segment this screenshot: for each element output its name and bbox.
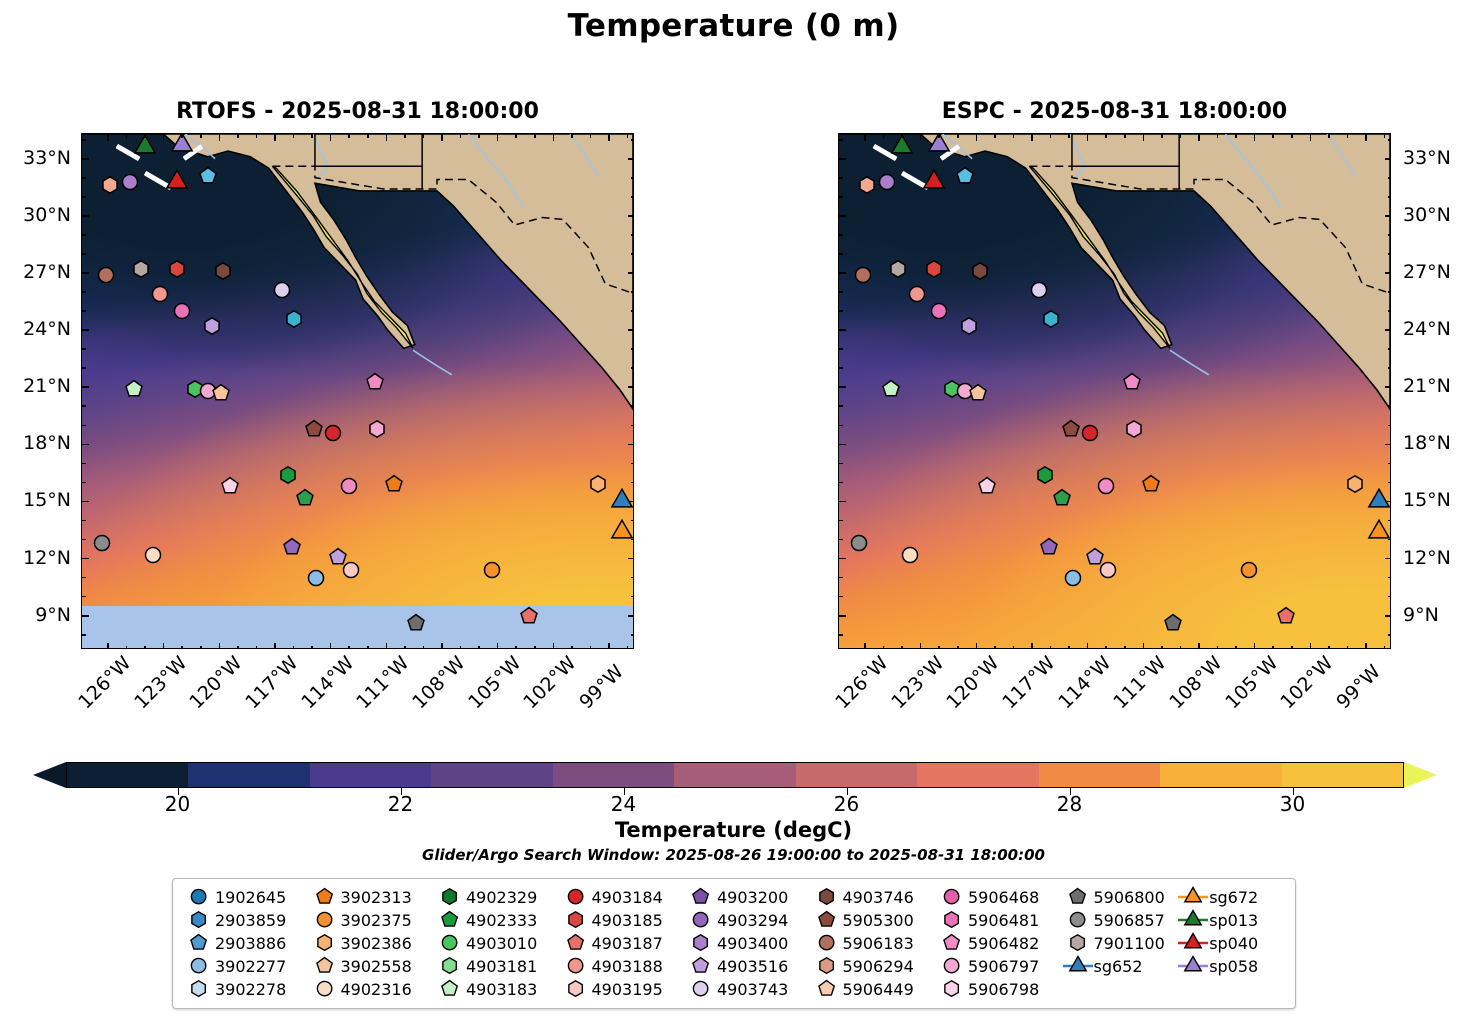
lon-minor-tick bbox=[571, 646, 573, 649]
map-marker-argo-8[interactable] bbox=[907, 284, 927, 304]
lon-tick-label: 114°W bbox=[1054, 661, 1106, 713]
legend-column-8: sg672 sp013 sp040 sp058 bbox=[1177, 887, 1285, 999]
map-marker-argo-28[interactable] bbox=[900, 545, 920, 565]
lat-tick bbox=[1385, 272, 1391, 274]
map-marker-argo-5[interactable] bbox=[924, 259, 944, 279]
legend-label: 4903294 bbox=[717, 911, 788, 930]
map-marker-argo-35[interactable] bbox=[1276, 606, 1296, 626]
lon-tick bbox=[608, 643, 610, 649]
map-marker-argo-8[interactable] bbox=[150, 284, 170, 304]
map-marker-argo-21[interactable] bbox=[278, 465, 298, 485]
legend-item[interactable]: 4903743 bbox=[685, 979, 811, 999]
lat-minor-tick bbox=[839, 196, 843, 198]
legend-label: 4902316 bbox=[341, 980, 412, 999]
colorbar-extend-high bbox=[1404, 762, 1437, 788]
legend-symbol-sg672 bbox=[1177, 888, 1209, 906]
map-panel-espc[interactable]: ESPC - 2025-08-31 18:00:00 126°W123°W120… bbox=[838, 133, 1391, 649]
legend-item[interactable]: 4902333 bbox=[434, 910, 560, 930]
legend-column-1: 39023133902375390238639025584902316 bbox=[309, 887, 435, 999]
map-canvas-rtofs[interactable] bbox=[81, 133, 634, 649]
lat-minor-tick bbox=[1388, 253, 1391, 255]
map-marker-argo-21[interactable] bbox=[1035, 465, 1055, 485]
legend-item[interactable]: 4903516 bbox=[685, 956, 811, 976]
lat-tick bbox=[82, 272, 89, 274]
lon-minor-tick bbox=[1180, 646, 1182, 649]
map-marker-argo-33[interactable] bbox=[1239, 560, 1259, 580]
map-marker-argo-2[interactable] bbox=[857, 175, 877, 195]
lon-minor-tick bbox=[994, 646, 996, 649]
lon-tick bbox=[219, 643, 221, 649]
legend-item[interactable]: 5906449 bbox=[811, 979, 937, 999]
map-marker-argo-34[interactable] bbox=[406, 613, 426, 633]
lat-tick-label: 21°N bbox=[1403, 375, 1467, 397]
lat-tick-label: 9°N bbox=[0, 604, 71, 626]
colorbar-tick-label: 22 bbox=[388, 792, 413, 816]
lon-tick bbox=[1310, 643, 1312, 649]
lon-tick bbox=[1198, 643, 1200, 649]
lon-tick bbox=[1254, 643, 1256, 649]
lon-tick bbox=[497, 643, 499, 649]
legend-item[interactable]: 4903746 bbox=[811, 887, 937, 907]
map-marker-argo-9[interactable] bbox=[172, 301, 192, 321]
legend-item[interactable]: 4903400 bbox=[685, 933, 811, 953]
legend-item[interactable]: 3902278 bbox=[183, 979, 309, 999]
lon-minor-tick bbox=[1272, 134, 1274, 138]
lon-minor-tick bbox=[367, 646, 369, 649]
legend-label: 5906798 bbox=[968, 980, 1039, 999]
lon-minor-tick bbox=[348, 134, 350, 138]
legend-item[interactable]: 1902645 bbox=[183, 887, 309, 907]
lon-tick bbox=[920, 643, 922, 649]
lat-tick bbox=[1385, 329, 1391, 331]
lon-minor-tick bbox=[994, 134, 996, 138]
legend-column-5: 49037465905300590618359062945906449 bbox=[811, 887, 937, 999]
lat-minor-tick bbox=[82, 596, 86, 598]
lon-tick bbox=[497, 134, 499, 141]
lat-tick-label: 27°N bbox=[1403, 261, 1467, 283]
map-marker-argo-11[interactable] bbox=[284, 309, 304, 329]
legend-symbol-4903183 bbox=[434, 979, 466, 998]
lat-minor-tick bbox=[82, 520, 86, 522]
lon-tick bbox=[1087, 134, 1089, 141]
lon-tick bbox=[386, 643, 388, 649]
map-marker-argo-24[interactable] bbox=[1096, 476, 1116, 496]
lat-minor-tick bbox=[82, 539, 86, 541]
legend-item[interactable]: 4903187 bbox=[560, 933, 686, 953]
legend-item[interactable]: 3902558 bbox=[309, 956, 435, 976]
lat-tick bbox=[1385, 444, 1391, 446]
lon-tick bbox=[107, 643, 109, 649]
lon-tick bbox=[386, 134, 388, 141]
map-marker-argo-1[interactable] bbox=[955, 166, 975, 186]
legend-item[interactable]: 3902313 bbox=[309, 887, 435, 907]
map-marker-argo-17[interactable] bbox=[1122, 372, 1142, 392]
colorbar-band-5 bbox=[674, 763, 795, 787]
map-marker-argo-12[interactable] bbox=[202, 316, 222, 336]
legend-label: 4903516 bbox=[717, 957, 788, 976]
legend-item[interactable]: 4903010 bbox=[434, 933, 560, 953]
lat-tick bbox=[1385, 215, 1391, 217]
map-marker-argo-23[interactable] bbox=[1052, 488, 1072, 508]
legend-item[interactable]: 4903188 bbox=[560, 956, 686, 976]
legend-symbol-4903188 bbox=[560, 956, 592, 975]
legend-label: 5906183 bbox=[843, 934, 914, 953]
lat-tick bbox=[1385, 615, 1391, 617]
lat-tick bbox=[839, 615, 846, 617]
legend-label: 2903886 bbox=[215, 934, 286, 953]
legend-label: 5906449 bbox=[843, 980, 914, 999]
lon-tick bbox=[976, 134, 978, 141]
map-marker-argo-7[interactable] bbox=[96, 265, 116, 285]
legend-symbol-3902313 bbox=[309, 887, 341, 906]
map-marker-argo-28[interactable] bbox=[143, 545, 163, 565]
lat-minor-tick bbox=[839, 367, 843, 369]
lon-minor-tick bbox=[237, 646, 239, 649]
lat-minor-tick bbox=[82, 310, 86, 312]
lon-tick-label: 111°W bbox=[1110, 661, 1162, 713]
map-panel-rtofs[interactable]: RTOFS - 2025-08-31 18:00:00 126°W123°W12… bbox=[81, 133, 634, 649]
lat-minor-tick bbox=[839, 577, 843, 579]
lat-tick bbox=[628, 215, 634, 217]
lat-tick bbox=[839, 444, 846, 446]
lon-minor-tick bbox=[181, 134, 183, 138]
map-marker-argo-10[interactable] bbox=[1029, 280, 1049, 300]
lon-tick bbox=[441, 134, 443, 141]
lon-tick bbox=[1310, 134, 1312, 141]
map-marker-argo-18[interactable] bbox=[1061, 419, 1081, 439]
legend-item[interactable]: 5906857 bbox=[1062, 910, 1178, 930]
lat-tick-label: 18°N bbox=[0, 432, 71, 454]
lat-minor-tick bbox=[631, 520, 634, 522]
legend-symbol-2903859 bbox=[183, 910, 215, 929]
map-marker-argo-16[interactable] bbox=[211, 383, 231, 403]
map-marker-sp040[interactable] bbox=[165, 170, 188, 193]
legend-symbol-4902329 bbox=[434, 887, 466, 906]
lon-minor-tick bbox=[404, 646, 406, 649]
lat-minor-tick bbox=[839, 139, 843, 141]
lat-minor-tick bbox=[631, 425, 634, 427]
legend-item[interactable]: 5906482 bbox=[936, 933, 1062, 953]
map-marker-argo-2[interactable] bbox=[100, 175, 120, 195]
lat-minor-tick bbox=[839, 482, 843, 484]
map-marker-sp013[interactable] bbox=[134, 136, 157, 159]
map-marker-argo-32[interactable] bbox=[1098, 560, 1118, 580]
map-marker-argo-10[interactable] bbox=[272, 280, 292, 300]
lat-minor-tick bbox=[631, 596, 634, 598]
legend-item[interactable]: sg652 bbox=[1062, 956, 1178, 976]
lat-minor-tick bbox=[631, 463, 634, 465]
lat-tick-label: 12°N bbox=[1403, 547, 1467, 569]
legend-label: 2903859 bbox=[215, 911, 286, 930]
legend-label: 3902277 bbox=[215, 957, 286, 976]
colorbar-tick-label: 26 bbox=[834, 792, 859, 816]
lon-minor-tick bbox=[460, 134, 462, 138]
map-marker-argo-13[interactable] bbox=[124, 379, 144, 399]
lat-minor-tick bbox=[631, 291, 634, 293]
lat-tick bbox=[82, 615, 89, 617]
legend-symbol-4903294 bbox=[685, 910, 717, 929]
legend-item[interactable]: 3902386 bbox=[309, 933, 435, 953]
legend-item[interactable]: sp058 bbox=[1177, 956, 1285, 976]
lat-minor-tick bbox=[82, 425, 86, 427]
legend-item[interactable]: 5906798 bbox=[936, 979, 1062, 999]
map-marker-argo-27[interactable] bbox=[849, 533, 869, 553]
legend-label: 7901100 bbox=[1094, 934, 1165, 953]
legend-item[interactable]: 5906800 bbox=[1062, 887, 1178, 907]
lat-minor-tick bbox=[1388, 234, 1391, 236]
lat-minor-tick bbox=[839, 405, 843, 407]
legend-symbol-5906449 bbox=[811, 979, 843, 998]
map-marker-argo-3[interactable] bbox=[877, 172, 897, 192]
map-marker-argo-13[interactable] bbox=[881, 379, 901, 399]
map-marker-argo-5[interactable] bbox=[167, 259, 187, 279]
map-marker-argo-23[interactable] bbox=[295, 488, 315, 508]
legend-item[interactable]: sg672 bbox=[1177, 887, 1285, 907]
lat-tick bbox=[82, 215, 89, 217]
legend-item[interactable]: 5906183 bbox=[811, 933, 937, 953]
map-marker-argo-1[interactable] bbox=[198, 166, 218, 186]
map-marker-argo-35[interactable] bbox=[519, 606, 539, 626]
legend-symbol-sp058 bbox=[1177, 957, 1209, 975]
lon-minor-tick bbox=[590, 134, 592, 138]
map-marker-argo-4[interactable] bbox=[131, 259, 151, 279]
map-marker-argo-22[interactable] bbox=[220, 476, 240, 496]
legend-symbol-3902386 bbox=[309, 933, 341, 952]
legend-symbol-4903010 bbox=[434, 933, 466, 952]
legend-label: 5906468 bbox=[968, 888, 1039, 907]
lon-minor-tick bbox=[515, 646, 517, 649]
legend-label: 4903185 bbox=[592, 911, 663, 930]
legend-item[interactable]: 4903183 bbox=[434, 979, 560, 999]
map-marker-argo-22[interactable] bbox=[977, 476, 997, 496]
map-marker-argo-18[interactable] bbox=[304, 419, 324, 439]
legend-item[interactable]: 4903181 bbox=[434, 956, 560, 976]
legend-item[interactable]: 5905300 bbox=[811, 910, 937, 930]
legend-symbol-3902278 bbox=[183, 979, 215, 998]
colorbar-band-9 bbox=[1160, 763, 1281, 787]
map-marker-argo-9[interactable] bbox=[929, 301, 949, 321]
lat-minor-tick bbox=[631, 634, 634, 636]
lat-tick bbox=[839, 558, 846, 560]
lat-minor-tick bbox=[1388, 577, 1391, 579]
lon-minor-tick bbox=[1105, 134, 1107, 138]
lon-minor-tick bbox=[627, 646, 629, 649]
legend-symbol-5906857 bbox=[1062, 910, 1094, 929]
lon-tick bbox=[1143, 134, 1145, 141]
map-marker-argo-11[interactable] bbox=[1041, 309, 1061, 329]
colorbar[interactable] bbox=[33, 762, 1437, 788]
map-marker-argo-31[interactable] bbox=[306, 568, 326, 588]
map-marker-argo-3[interactable] bbox=[120, 172, 140, 192]
lat-minor-tick bbox=[1388, 634, 1391, 636]
lon-tick bbox=[330, 643, 332, 649]
legend-symbol-5905300 bbox=[811, 910, 843, 929]
lon-minor-tick bbox=[1161, 646, 1163, 649]
lon-minor-tick bbox=[1068, 646, 1070, 649]
lon-minor-tick bbox=[1347, 134, 1349, 138]
lat-minor-tick bbox=[82, 291, 86, 293]
lat-minor-tick bbox=[82, 367, 86, 369]
lon-minor-tick bbox=[1217, 646, 1219, 649]
lon-minor-tick bbox=[348, 646, 350, 649]
lat-tick-label: 33°N bbox=[0, 147, 71, 169]
lat-minor-tick bbox=[1388, 310, 1391, 312]
legend-item[interactable]: 3902277 bbox=[183, 956, 309, 976]
lon-minor-tick bbox=[293, 134, 295, 138]
lon-tick bbox=[553, 643, 555, 649]
platform-legend[interactable]: 1902645290385929038863902277390227839023… bbox=[172, 878, 1296, 1009]
legend-item[interactable]: 7901100 bbox=[1062, 933, 1178, 953]
lat-tick bbox=[628, 272, 634, 274]
lon-minor-tick bbox=[1050, 134, 1052, 138]
lon-tick bbox=[274, 134, 276, 141]
lon-tick-label: 102°W bbox=[1277, 661, 1329, 713]
legend-label: sp013 bbox=[1209, 911, 1258, 930]
map-marker-argo-4[interactable] bbox=[888, 259, 908, 279]
lat-tick bbox=[628, 615, 634, 617]
lon-minor-tick bbox=[1180, 134, 1182, 138]
lat-tick-label: 30°N bbox=[1403, 204, 1467, 226]
legend-label: 4903184 bbox=[592, 888, 663, 907]
map-marker-argo-31[interactable] bbox=[1063, 568, 1083, 588]
map-marker-sp040[interactable] bbox=[922, 170, 945, 193]
legend-item[interactable]: 4903200 bbox=[685, 887, 811, 907]
colorbar-band-8 bbox=[1039, 763, 1160, 787]
legend-symbol-7901100 bbox=[1062, 933, 1094, 952]
lon-minor-tick bbox=[1291, 646, 1293, 649]
legend-symbol-3902558 bbox=[309, 956, 341, 975]
legend-item[interactable]: 4902316 bbox=[309, 979, 435, 999]
nodata-band-rtofs bbox=[82, 606, 633, 648]
lat-minor-tick bbox=[631, 539, 634, 541]
lon-minor-tick bbox=[515, 134, 517, 138]
lon-minor-tick bbox=[460, 646, 462, 649]
legend-symbol-4902333 bbox=[434, 910, 466, 929]
legend-item[interactable]: 5906468 bbox=[936, 887, 1062, 907]
legend-label: 4903195 bbox=[592, 980, 663, 999]
map-marker-argo-6[interactable] bbox=[213, 261, 233, 281]
colorbar-band-4 bbox=[553, 763, 674, 787]
legend-item[interactable]: sp040 bbox=[1177, 933, 1285, 953]
map-marker-argo-29[interactable] bbox=[1039, 537, 1059, 557]
map-marker-sp013[interactable] bbox=[891, 136, 914, 159]
map-marker-argo-7[interactable] bbox=[853, 265, 873, 285]
map-marker-argo-27[interactable] bbox=[92, 533, 112, 553]
lon-minor-tick bbox=[1013, 646, 1015, 649]
map-marker-argo-20[interactable] bbox=[1124, 419, 1144, 439]
lat-minor-tick bbox=[631, 234, 634, 236]
map-marker-argo-19[interactable] bbox=[1080, 423, 1100, 443]
legend-item[interactable]: 5906797 bbox=[936, 956, 1062, 976]
map-marker-argo-25[interactable] bbox=[384, 474, 404, 494]
lon-tick-label: 99°W bbox=[1332, 661, 1384, 713]
colorbar-tick-label: 30 bbox=[1280, 792, 1305, 816]
lat-minor-tick bbox=[631, 405, 634, 407]
lon-tick-label: 117°W bbox=[241, 661, 293, 713]
lon-minor-tick bbox=[478, 134, 480, 138]
map-marker-argo-17[interactable] bbox=[365, 372, 385, 392]
lon-minor-tick bbox=[1291, 134, 1293, 138]
lat-minor-tick bbox=[1388, 139, 1391, 141]
map-marker-argo-12[interactable] bbox=[959, 316, 979, 336]
legend-item[interactable]: 4903294 bbox=[685, 910, 811, 930]
lon-minor-tick bbox=[1328, 134, 1330, 138]
lon-minor-tick bbox=[423, 134, 425, 138]
legend-label: 4903400 bbox=[717, 934, 788, 953]
lat-tick-label: 21°N bbox=[0, 375, 71, 397]
legend-label: 5906294 bbox=[843, 957, 914, 976]
lon-minor-tick bbox=[404, 134, 406, 138]
map-marker-argo-19[interactable] bbox=[323, 423, 343, 443]
legend-label: 3902313 bbox=[341, 888, 412, 907]
lat-tick bbox=[839, 215, 846, 217]
legend-item[interactable]: 5906294 bbox=[811, 956, 937, 976]
lat-minor-tick bbox=[839, 520, 843, 522]
map-marker-argo-34[interactable] bbox=[1163, 613, 1183, 633]
lon-minor-tick bbox=[1235, 134, 1237, 138]
map-marker-argo-20[interactable] bbox=[367, 419, 387, 439]
legend-column-2: 49023294902333490301049031814903183 bbox=[434, 887, 560, 999]
legend-item[interactable]: 5906481 bbox=[936, 910, 1062, 930]
lat-tick-label: 15°N bbox=[1403, 489, 1467, 511]
legend-item[interactable]: 4903185 bbox=[560, 910, 686, 930]
legend-item[interactable]: sp013 bbox=[1177, 910, 1285, 930]
map-marker-argo-33[interactable] bbox=[482, 560, 502, 580]
lon-minor-tick bbox=[1384, 646, 1386, 649]
lon-tick bbox=[608, 134, 610, 141]
lon-minor-tick bbox=[144, 646, 146, 649]
legend-label: 4902329 bbox=[466, 888, 537, 907]
lon-minor-tick bbox=[256, 134, 258, 138]
legend-item[interactable]: 3902375 bbox=[309, 910, 435, 930]
lat-minor-tick bbox=[82, 634, 86, 636]
lat-minor-tick bbox=[631, 367, 634, 369]
legend-item[interactable]: 4902329 bbox=[434, 887, 560, 907]
lat-minor-tick bbox=[82, 405, 86, 407]
legend-label: 5906797 bbox=[968, 957, 1039, 976]
map-canvas-espc[interactable] bbox=[838, 133, 1391, 649]
map-marker-argo-16[interactable] bbox=[968, 383, 988, 403]
lon-tick bbox=[553, 134, 555, 141]
lat-tick-label: 33°N bbox=[1403, 147, 1467, 169]
legend-item[interactable]: 2903859 bbox=[183, 910, 309, 930]
map-marker-argo-29[interactable] bbox=[282, 537, 302, 557]
lon-minor-tick bbox=[957, 646, 959, 649]
legend-item[interactable]: 4903184 bbox=[560, 887, 686, 907]
map-marker-argo-26[interactable] bbox=[588, 474, 608, 494]
lon-tick bbox=[1143, 643, 1145, 649]
lon-minor-tick bbox=[1384, 134, 1386, 138]
lon-minor-tick bbox=[627, 134, 629, 138]
lat-tick bbox=[82, 329, 89, 331]
map-marker-argo-25[interactable] bbox=[1141, 474, 1161, 494]
legend-item[interactable]: 2903886 bbox=[183, 933, 309, 953]
map-marker-argo-24[interactable] bbox=[339, 476, 359, 496]
legend-item[interactable]: 4903195 bbox=[560, 979, 686, 999]
lon-minor-tick bbox=[237, 134, 239, 138]
lon-minor-tick bbox=[311, 646, 313, 649]
map-marker-argo-26[interactable] bbox=[1345, 474, 1365, 494]
lat-minor-tick bbox=[1388, 425, 1391, 427]
map-marker-argo-32[interactable] bbox=[341, 560, 361, 580]
lon-minor-tick bbox=[901, 646, 903, 649]
lon-tick bbox=[441, 643, 443, 649]
lon-minor-tick bbox=[1068, 134, 1070, 138]
lat-tick-label: 27°N bbox=[0, 261, 71, 283]
figure-suptitle: Temperature (0 m) bbox=[0, 8, 1467, 44]
lon-tick bbox=[274, 643, 276, 649]
map-marker-argo-6[interactable] bbox=[970, 261, 990, 281]
